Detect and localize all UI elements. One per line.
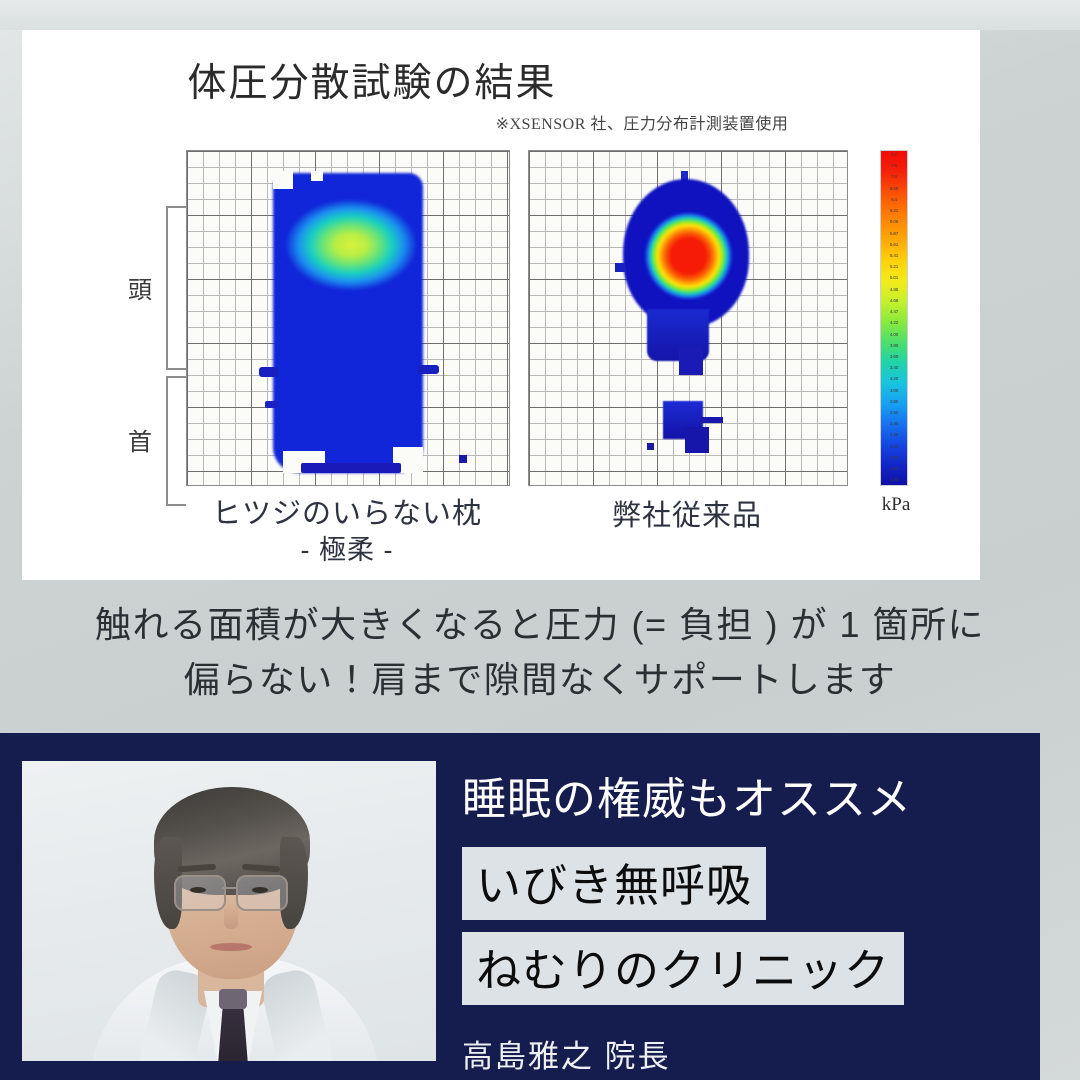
heat-blob-shoulder-left [259, 367, 279, 377]
body-copy-line-2: 偏らない！肩まで隙間なくサポートします [0, 653, 1080, 708]
colorbar-tick: 4.47 [890, 310, 898, 315]
eyeglasses-bridge [222, 887, 236, 889]
necktie-knot [219, 989, 247, 1009]
eye-left [190, 887, 206, 893]
colorbar-tick: 5.61 [890, 243, 898, 248]
colorbar-tick: 3.40 [890, 366, 898, 371]
colorbar-tick-list: 7.7 7.5 7.0 6.66 6.4 6.21 6.05 5.87 5.61… [881, 151, 907, 485]
colorbar-tick: 1.60 [890, 467, 898, 472]
colorbar-tick: 7.0 [891, 175, 897, 180]
doctor-photo [22, 761, 436, 1061]
bracket-head [166, 206, 186, 370]
heat-blob-tail-bar [301, 463, 401, 473]
colorbar-unit-label: kPa [866, 494, 926, 516]
endorsement-text-block: 睡眠の権威もオススメ いびき無呼吸 ねむりのクリニック 高島雅之 院長 [462, 763, 1002, 1076]
colorbar-tick: 2.60 [890, 411, 898, 416]
doctor-name-label: 高島雅之 院長 [462, 1031, 1002, 1076]
caption-right: 弊社従来品 [528, 498, 846, 535]
colorbar-tick: 4.85 [890, 288, 898, 293]
heat-blob-ear-left [615, 263, 625, 272]
colorbar-tick: 4.00 [890, 333, 898, 338]
colorbar-tick: 2.40 [890, 422, 898, 427]
axis-label-head: 頭 [128, 270, 152, 305]
colorbar-tick: 7.7 [891, 153, 897, 158]
top-gray-band [0, 0, 1080, 30]
colorbar-tick: 3.80 [890, 344, 898, 349]
endorsement-section: 睡眠の権威もオススメ いびき無呼吸 ねむりのクリニック 高島雅之 院長 [0, 733, 1040, 1080]
chart-subtitle: ※XSENSOR 社、圧力分布計測装置使用 [352, 110, 932, 134]
colorbar-tick: 4.66 [890, 299, 898, 304]
colorbar-tick: 3.20 [890, 377, 898, 382]
endorsement-headline: 睡眠の権威もオススメ [462, 763, 1002, 827]
heat-blob-stem [679, 347, 703, 375]
eye-right [252, 887, 268, 893]
heatmap-panel-left [186, 150, 510, 486]
colorbar-tick: 1.40 [890, 478, 898, 483]
page-title: 体圧分散試験の結果 [22, 52, 722, 108]
mouth [210, 943, 252, 951]
colorbar-legend: 7.7 7.5 7.0 6.66 6.4 6.21 6.05 5.87 5.61… [866, 150, 926, 516]
pressure-chart-card: 体圧分散試験の結果 ※XSENSOR 社、圧力分布計測装置使用 頭 首 [22, 30, 980, 580]
heat-blob-arm [701, 417, 723, 423]
caption-left-main: ヒツジのいらない枕 [212, 498, 482, 530]
heat-blob-head-right [623, 179, 749, 327]
clinic-chip-specialty: いびき無呼吸 [462, 847, 766, 920]
colorbar-tick: 5.01 [890, 276, 898, 281]
caption-left-sub: - 極柔 - [172, 533, 522, 568]
heat-blob-shoulder-right [417, 365, 439, 374]
eyeglasses-lens-left [174, 875, 226, 911]
colorbar-tick: 3.60 [890, 355, 898, 360]
caption-right-main: 弊社従来品 [612, 500, 762, 532]
colorbar-tick: 6.05 [890, 220, 898, 225]
page-root: 体圧分散試験の結果 ※XSENSOR 社、圧力分布計測装置使用 頭 首 [0, 0, 1080, 1080]
body-copy-line-1: 触れる面積が大きくなると圧力 (= 負担 ) が 1 箇所に [0, 598, 1080, 653]
colorbar-tick: 1.80 [890, 456, 898, 461]
clinic-chip-row-2: ねむりのクリニック [462, 932, 1002, 1005]
heat-blob-stray-dot-right [647, 443, 654, 450]
heatmap-panel-right [528, 150, 848, 486]
colorbar-tick: 3.00 [890, 389, 898, 394]
bracket-neck [166, 376, 186, 506]
eyeglasses-lens-right [236, 875, 288, 911]
heat-blob-stray-dot-left [459, 455, 467, 463]
heat-blob-body-left [273, 173, 423, 473]
colorbar-tick: 5.87 [890, 232, 898, 237]
colorbar-tick: 2.00 [890, 445, 898, 450]
colorbar-tick: 5.41 [890, 254, 898, 259]
heat-blob-notch-center [311, 171, 323, 181]
colorbar-tick: 2.20 [890, 433, 898, 438]
colorbar-gradient: 7.7 7.5 7.0 6.66 6.4 6.21 6.05 5.87 5.61… [880, 150, 908, 486]
heat-blob-notch-left [273, 171, 293, 189]
clinic-chip-row-1: いびき無呼吸 [462, 847, 1002, 920]
colorbar-tick: 5.21 [890, 265, 898, 270]
heat-blob-nub-left [265, 401, 279, 408]
colorbar-tick: 6.4 [891, 198, 897, 203]
clinic-chip-name: ねむりのクリニック [462, 932, 904, 1005]
colorbar-tick: 7.5 [891, 164, 897, 169]
colorbar-tick: 4.22 [890, 321, 898, 326]
colorbar-tick: 6.21 [890, 209, 898, 214]
caption-left: ヒツジのいらない枕 - 極柔 - [172, 496, 522, 568]
nose [224, 903, 238, 929]
body-copy: 触れる面積が大きくなると圧力 (= 負担 ) が 1 箇所に 偏らない！肩まで隙… [0, 598, 1080, 707]
colorbar-tick: 2.80 [890, 400, 898, 405]
axis-label-neck: 首 [128, 422, 152, 457]
colorbar-tick: 6.66 [890, 187, 898, 192]
heat-blob-shoulder-lower [685, 427, 709, 453]
